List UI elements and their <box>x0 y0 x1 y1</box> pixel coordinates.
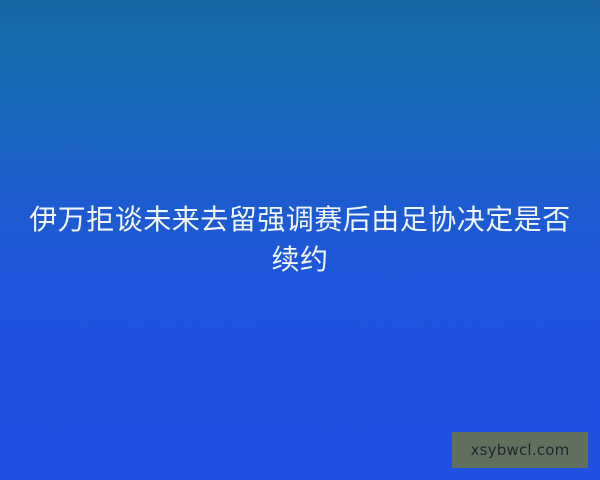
watermark-badge: xsybwcl.com <box>452 432 588 468</box>
headline-text: 伊万拒谈未来去留强调赛后由足协决定是否续约 <box>26 200 574 280</box>
news-image-banner: 伊万拒谈未来去留强调赛后由足协决定是否续约 xsybwcl.com <box>0 0 600 480</box>
watermark-url-label: xsybwcl.com <box>471 443 570 458</box>
